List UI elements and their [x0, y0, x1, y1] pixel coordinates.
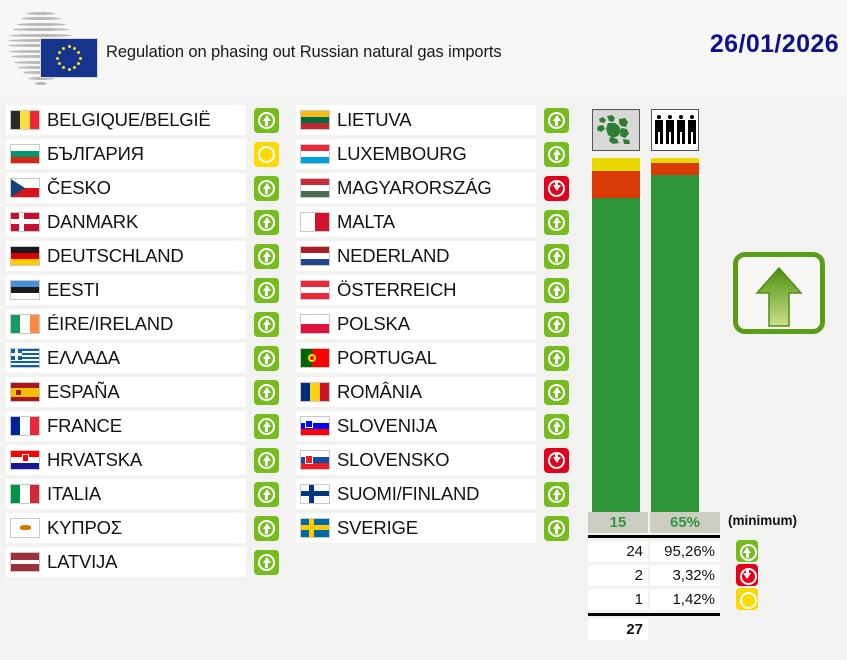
country-name-plate: LATVIJA	[6, 547, 246, 577]
legend-badge-for[interactable]	[736, 540, 758, 562]
country-label: LUXEMBOURG	[337, 139, 467, 169]
badge-arrow-stem	[265, 562, 268, 568]
country-row[interactable]: ΚΥΠΡΟΣ	[6, 513, 288, 543]
country-name-plate: ΚΥΠΡΟΣ	[6, 513, 246, 543]
green-up-arrow-icon	[755, 266, 803, 328]
country-row[interactable]: ESPAÑA	[6, 377, 288, 407]
badge-arrow-stem	[555, 426, 558, 432]
country-name-plate: MAGYARORSZÁG	[296, 173, 536, 203]
country-row[interactable]: DANMARK	[6, 207, 288, 237]
result-percent: 95,26%	[650, 541, 720, 562]
country-row[interactable]: ROMÂNIA	[296, 377, 578, 407]
country-label: DEUTSCHLAND	[47, 241, 184, 271]
vote-badge-for[interactable]	[254, 414, 279, 439]
country-list-left: BELGIQUE/BELGIËБЪЛГАРИЯČESKODANMARKDEUTS…	[6, 105, 288, 581]
result-count: 2	[588, 565, 648, 586]
badge-arrow-stem	[265, 120, 268, 126]
country-name-plate: БЪЛГАРИЯ	[6, 139, 246, 169]
flag-icon	[10, 382, 40, 402]
people-figures	[655, 115, 696, 145]
bar-segment-against	[592, 171, 640, 197]
flag-icon	[10, 450, 40, 470]
flag-icon	[300, 484, 330, 504]
country-label: SUOMI/FINLAND	[337, 479, 479, 509]
country-label: ITALIA	[47, 479, 101, 509]
badge-arrow-stem	[555, 528, 558, 534]
country-label: PORTUGAL	[337, 343, 437, 373]
country-name-plate: EESTI	[6, 275, 246, 305]
flag-icon	[10, 280, 40, 300]
country-row[interactable]: DEUTSCHLAND	[6, 241, 288, 271]
country-label: MAGYARORSZÁG	[337, 173, 492, 203]
country-name-plate: ČESKO	[6, 173, 246, 203]
badge-arrow-stem	[265, 256, 268, 262]
badge-arrow-stem	[265, 324, 268, 330]
country-row[interactable]: NEDERLAND	[296, 241, 578, 271]
badge-arrow-stem	[265, 392, 268, 398]
country-name-plate: SVERIGE	[296, 513, 536, 543]
country-name-plate: ESPAÑA	[6, 377, 246, 407]
country-name-plate: LUXEMBOURG	[296, 139, 536, 169]
result-row: 11,42%	[588, 589, 720, 610]
country-row[interactable]: HRVATSKA	[6, 445, 288, 475]
badge-arrow-stem	[555, 256, 558, 262]
badge-arrow-stem	[555, 182, 558, 187]
country-label: ČESKO	[47, 173, 111, 203]
outcome-adopted-box	[733, 252, 825, 334]
badge-arrow-stem	[265, 426, 268, 432]
country-row[interactable]: SUOMI/FINLAND	[296, 479, 578, 509]
result-percent: 1,42%	[650, 589, 720, 610]
country-row[interactable]: POLSKA	[296, 309, 578, 339]
badge-arrow-stem	[555, 154, 558, 160]
country-label: ÖSTERREICH	[337, 275, 456, 305]
country-row[interactable]: ČESKO	[6, 173, 288, 203]
country-label: NEDERLAND	[337, 241, 449, 271]
flag-icon	[10, 178, 40, 198]
country-name-plate: SUOMI/FINLAND	[296, 479, 536, 509]
flag-icon	[300, 314, 330, 334]
vote-badge-for[interactable]	[544, 312, 569, 337]
country-label: HRVATSKA	[47, 445, 142, 475]
vote-badge-for[interactable]	[254, 108, 279, 133]
country-row[interactable]: MALTA	[296, 207, 578, 237]
badge-arrow-stem	[265, 528, 268, 534]
country-name-plate: BELGIQUE/BELGIË	[6, 105, 246, 135]
country-row[interactable]: LIETUVA	[296, 105, 578, 135]
flag-icon	[10, 314, 40, 334]
country-row[interactable]: PORTUGAL	[296, 343, 578, 373]
result-count: 24	[588, 541, 648, 562]
flag-icon	[10, 552, 40, 572]
country-list-right: LIETUVALUXEMBOURGMAGYARORSZÁGMALTANEDERL…	[296, 105, 578, 547]
country-label: БЪЛГАРИЯ	[47, 139, 144, 169]
country-label: ESPAÑA	[47, 377, 119, 407]
vote-badge-for[interactable]	[544, 278, 569, 303]
country-row[interactable]: ITALIA	[6, 479, 288, 509]
vote-badge-for[interactable]	[254, 210, 279, 235]
country-row[interactable]: FRANCE	[6, 411, 288, 441]
badge-arrow-stem	[555, 358, 558, 364]
flag-icon	[10, 518, 40, 538]
vote-badge-for[interactable]	[254, 380, 279, 405]
country-name-plate: ROMÂNIA	[296, 377, 536, 407]
vote-badge-for[interactable]	[544, 346, 569, 371]
flag-icon	[300, 382, 330, 402]
country-row[interactable]: ÖSTERREICH	[296, 275, 578, 305]
legend-badge-abstain[interactable]	[736, 588, 758, 610]
country-label: LATVIJA	[47, 547, 117, 577]
result-row: 23,32%	[588, 565, 720, 586]
flag-icon	[10, 110, 40, 130]
badge-arrow-stem	[265, 222, 268, 228]
country-row[interactable]: EESTI	[6, 275, 288, 305]
country-row[interactable]: ÉIRE/IRELAND	[6, 309, 288, 339]
flag-icon	[10, 144, 40, 164]
minimum-label: (minimum)	[728, 513, 797, 528]
vote-badge-for[interactable]	[254, 312, 279, 337]
country-label: ΕΛΛΑΔΑ	[47, 343, 120, 373]
bar-member-states	[592, 158, 640, 515]
flag-icon	[300, 518, 330, 538]
vote-badge-against[interactable]	[544, 448, 569, 473]
badge-arrow-stem	[265, 188, 268, 194]
bar-segment-for	[651, 175, 699, 515]
flag-icon	[10, 348, 40, 368]
badge-ring	[258, 146, 275, 163]
flag-icon	[300, 110, 330, 130]
flag-icon	[300, 348, 330, 368]
badge-arrow-stem	[555, 454, 558, 459]
badge-arrow-stem	[555, 222, 558, 228]
country-name-plate: DANMARK	[6, 207, 246, 237]
country-row[interactable]: LATVIJA	[6, 547, 288, 577]
total-row: 27	[588, 619, 720, 640]
result-percent: 3,32%	[650, 565, 720, 586]
vote-badge-for[interactable]	[254, 550, 279, 575]
threshold-member-states: 15	[588, 512, 648, 533]
people-icon	[651, 109, 699, 151]
flag-icon	[10, 484, 40, 504]
badge-arrow-stem	[265, 460, 268, 466]
flag-icon	[300, 144, 330, 164]
country-row[interactable]: SVERIGE	[296, 513, 578, 543]
results-table: 15 65% (minimum) 2495,26%23,32%11,42% 27	[588, 512, 720, 640]
page-title: Regulation on phasing out Russian natura…	[106, 43, 502, 62]
legend-badge-against[interactable]	[736, 564, 758, 586]
country-label: SLOVENIJA	[337, 411, 437, 441]
badge-arrow-stem	[555, 290, 558, 296]
country-label: EESTI	[47, 275, 99, 305]
flag-icon	[300, 416, 330, 436]
badge-arrow-stem	[555, 120, 558, 126]
country-name-plate: MALTA	[296, 207, 536, 237]
country-label: LIETUVA	[337, 105, 411, 135]
country-row[interactable]: SLOVENIJA	[296, 411, 578, 441]
country-name-plate: FRANCE	[6, 411, 246, 441]
vote-badge-for[interactable]	[544, 244, 569, 269]
vote-badge-for[interactable]	[254, 448, 279, 473]
country-name-plate: ITALIA	[6, 479, 246, 509]
badge-arrow-stem	[555, 392, 558, 398]
country-label: FRANCE	[47, 411, 122, 441]
flag-icon	[300, 212, 330, 232]
country-label: ΚΥΠΡΟΣ	[47, 513, 122, 543]
vote-badge-for[interactable]	[544, 142, 569, 167]
country-name-plate: ÉIRE/IRELAND	[6, 309, 246, 339]
country-label: SLOVENSKO	[337, 445, 449, 475]
vote-badge-for[interactable]	[544, 516, 569, 541]
country-name-plate: HRVATSKA	[6, 445, 246, 475]
country-name-plate: POLSKA	[296, 309, 536, 339]
country-name-plate: ÖSTERREICH	[296, 275, 536, 305]
flag-icon	[300, 450, 330, 470]
threshold-population: 65%	[650, 512, 720, 533]
country-row[interactable]: MAGYARORSZÁG	[296, 173, 578, 203]
vote-badge-for[interactable]	[544, 210, 569, 235]
vote-badge-against[interactable]	[544, 176, 569, 201]
vote-badge-for[interactable]	[254, 176, 279, 201]
header-bar: Regulation on phasing out Russian natura…	[0, 0, 847, 95]
eu-flag-icon	[40, 38, 98, 78]
badge-arrow-stem	[265, 358, 268, 364]
europe-map-icon	[592, 109, 640, 151]
vote-badge-for[interactable]	[254, 516, 279, 541]
vote-badge-for[interactable]	[254, 278, 279, 303]
vote-badge-abstain[interactable]	[254, 142, 279, 167]
country-label: ROMÂNIA	[337, 377, 422, 407]
country-name-plate: SLOVENSKO	[296, 445, 536, 475]
country-row[interactable]: BELGIQUE/BELGIË	[6, 105, 288, 135]
flag-icon	[10, 246, 40, 266]
badge-arrow-stem	[746, 552, 749, 558]
flag-icon	[10, 212, 40, 232]
vote-badge-for[interactable]	[544, 414, 569, 439]
vote-badge-for[interactable]	[254, 244, 279, 269]
country-name-plate: PORTUGAL	[296, 343, 536, 373]
country-row[interactable]: БЪЛГАРИЯ	[6, 139, 288, 169]
badge-arrow-stem	[555, 494, 558, 500]
flag-icon	[10, 416, 40, 436]
bar-segment-abstain	[592, 158, 640, 171]
badge-arrow-stem	[265, 494, 268, 500]
session-date: 26/01/2026	[710, 30, 839, 59]
country-row[interactable]: LUXEMBOURG	[296, 139, 578, 169]
country-row[interactable]: ΕΛΛΑΔΑ	[6, 343, 288, 373]
flag-icon	[300, 178, 330, 198]
result-detail-rows: 2495,26%23,32%11,42%	[588, 541, 720, 610]
country-label: POLSKA	[337, 309, 410, 339]
europe-map-svg	[593, 110, 639, 150]
country-label: ÉIRE/IRELAND	[47, 309, 173, 339]
council-of-the-eu-logo	[6, 8, 104, 88]
country-name-plate: LIETUVA	[296, 105, 536, 135]
badge-arrow-stem	[265, 290, 268, 296]
country-label: DANMARK	[47, 207, 138, 237]
country-name-plate: NEDERLAND	[296, 241, 536, 271]
bar-population	[651, 158, 699, 515]
country-label: BELGIQUE/BELGIË	[47, 105, 211, 135]
result-count: 1	[588, 589, 648, 610]
country-label: MALTA	[337, 207, 395, 237]
table-divider-bottom	[588, 613, 720, 616]
flag-icon	[300, 280, 330, 300]
threshold-row: 15 65% (minimum)	[588, 512, 720, 533]
country-name-plate: ΕΛΛΑΔΑ	[6, 343, 246, 373]
bar-segment-for	[592, 198, 640, 515]
vote-badge-for[interactable]	[544, 482, 569, 507]
vote-badge-for[interactable]	[254, 482, 279, 507]
country-name-plate: SLOVENIJA	[296, 411, 536, 441]
flag-icon	[300, 246, 330, 266]
country-label: SVERIGE	[337, 513, 418, 543]
bar-segment-against	[651, 163, 699, 175]
badge-arrow-stem	[746, 570, 749, 575]
country-row[interactable]: SLOVENSKO	[296, 445, 578, 475]
badge-arrow-stem	[555, 324, 558, 330]
vote-badge-for[interactable]	[254, 346, 279, 371]
total-votes: 27	[588, 619, 648, 640]
table-divider-top	[588, 535, 720, 538]
country-name-plate: DEUTSCHLAND	[6, 241, 246, 271]
vote-badge-for[interactable]	[544, 380, 569, 405]
result-row: 2495,26%	[588, 541, 720, 562]
vote-badge-for[interactable]	[544, 108, 569, 133]
badge-ring	[740, 592, 757, 609]
